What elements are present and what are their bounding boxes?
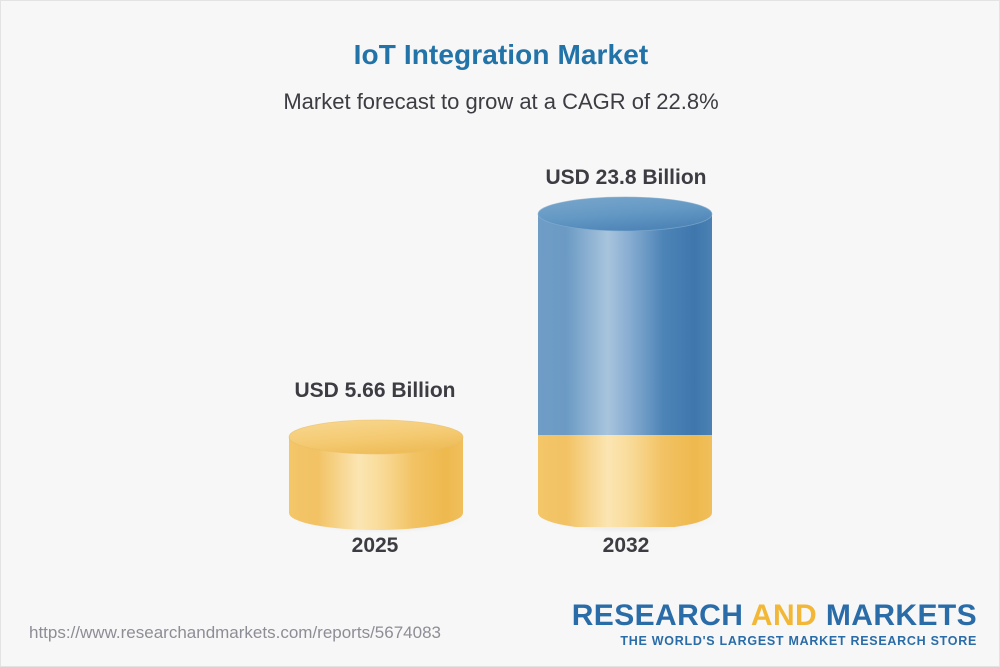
value-label-2032: USD 23.8 Billion [476,166,776,190]
logo-word-research: RESEARCH [572,599,751,632]
category-label-2032: 2032 [526,534,726,558]
chart-canvas: IoT Integration Market Market forecast t… [0,0,1000,667]
logo-wordmark: RESEARCH AND MARKETS [572,601,977,632]
plot-area: USD 23.8 Billion [1,1,1000,667]
report-url[interactable]: https://www.researchandmarkets.com/repor… [29,623,441,643]
logo-tagline: THE WORLD'S LARGEST MARKET RESEARCH STOR… [572,634,977,648]
bar-cylinder-2025[interactable] [282,411,478,527]
bar-cylinder-2032[interactable] [531,197,727,527]
research-and-markets-logo: RESEARCH AND MARKETS THE WORLD'S LARGEST… [572,601,977,648]
logo-word-and: AND [751,599,826,632]
category-label-2025: 2025 [275,534,475,558]
value-label-2025: USD 5.66 Billion [225,379,525,403]
logo-word-markets: MARKETS [826,599,977,632]
